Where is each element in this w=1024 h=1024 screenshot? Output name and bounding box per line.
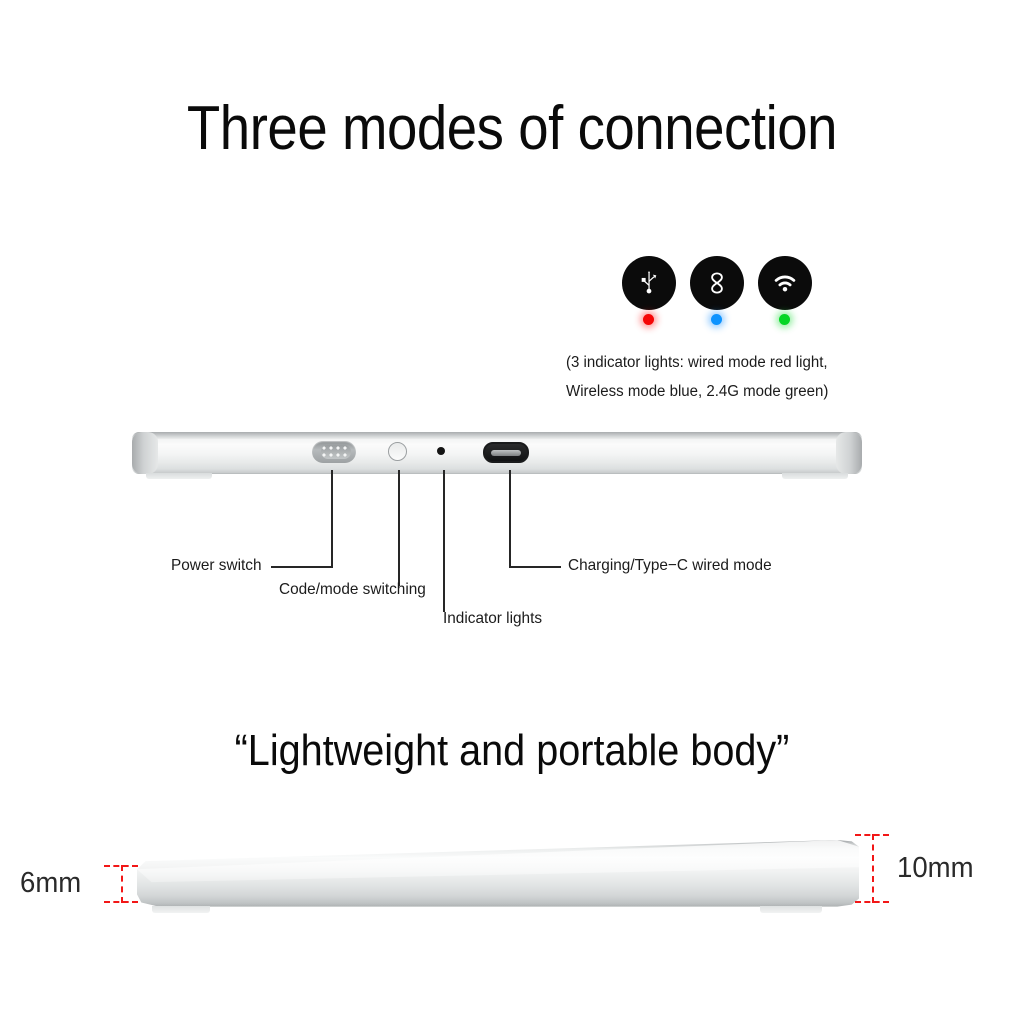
led-green <box>779 314 790 325</box>
dimension-front-bottom-dash <box>104 901 138 903</box>
led-blue <box>711 314 722 325</box>
dimension-front-tick <box>121 865 123 903</box>
link-icon <box>703 269 731 297</box>
thickness-illustration: 6mm 10mm <box>0 812 1024 942</box>
leader-indicator-vertical <box>443 470 445 612</box>
infographic-canvas: Three modes of connection <box>0 0 1024 1024</box>
wifi-mode-badge <box>758 256 812 310</box>
usb-icon <box>634 268 664 298</box>
side-foot-right <box>760 906 822 913</box>
power-switch <box>312 441 356 463</box>
device-right-corner <box>836 432 862 474</box>
caption-line-1: (3 indicator lights: wired mode red ligh… <box>566 348 915 377</box>
device-side-profile <box>137 840 859 908</box>
leader-mode-button-vertical <box>398 470 400 586</box>
label-indicator-lights: Indicator lights <box>443 610 542 628</box>
led-red <box>643 314 654 325</box>
usb-c-port <box>483 442 529 463</box>
label-usbc: Charging/Type−C wired mode <box>568 557 772 575</box>
leader-usbc-elbow <box>509 566 561 568</box>
power-switch-grip <box>321 445 351 459</box>
device-left-corner <box>132 432 158 474</box>
leader-power-switch-vertical <box>331 470 333 567</box>
connection-mode-badges <box>622 256 812 318</box>
leader-power-switch-elbow <box>271 566 333 568</box>
wifi-icon <box>770 268 800 298</box>
dimension-rear-bottom-dash <box>855 901 889 903</box>
dimension-marker-rear <box>855 834 889 903</box>
usb-mode-badge <box>622 256 676 310</box>
wireless-mode-badge <box>690 256 744 310</box>
dimension-label-rear: 10mm <box>897 852 974 885</box>
leader-usbc-vertical <box>509 470 511 567</box>
side-foot-left <box>152 906 210 913</box>
indicator-caption: (3 indicator lights: wired mode red ligh… <box>566 348 915 406</box>
dimension-marker-front <box>104 865 138 903</box>
page-title: Three modes of connection <box>61 96 962 161</box>
indicator-pinhole <box>437 447 445 455</box>
usb-c-tongue <box>491 450 521 456</box>
device-callouts: Power switch Code/mode switching Indicat… <box>0 470 1024 640</box>
indicator-led-row <box>622 314 812 332</box>
dimension-rear-tick <box>872 834 874 903</box>
label-power-switch: Power switch <box>171 557 261 575</box>
dimension-label-front: 6mm <box>20 867 81 900</box>
mode-button <box>388 442 407 461</box>
tagline-quote: “Lightweight and portable body” <box>51 726 973 776</box>
caption-line-2: Wireless mode blue, 2.4G mode green) <box>566 377 915 406</box>
label-mode-button: Code/mode switching <box>279 581 426 599</box>
